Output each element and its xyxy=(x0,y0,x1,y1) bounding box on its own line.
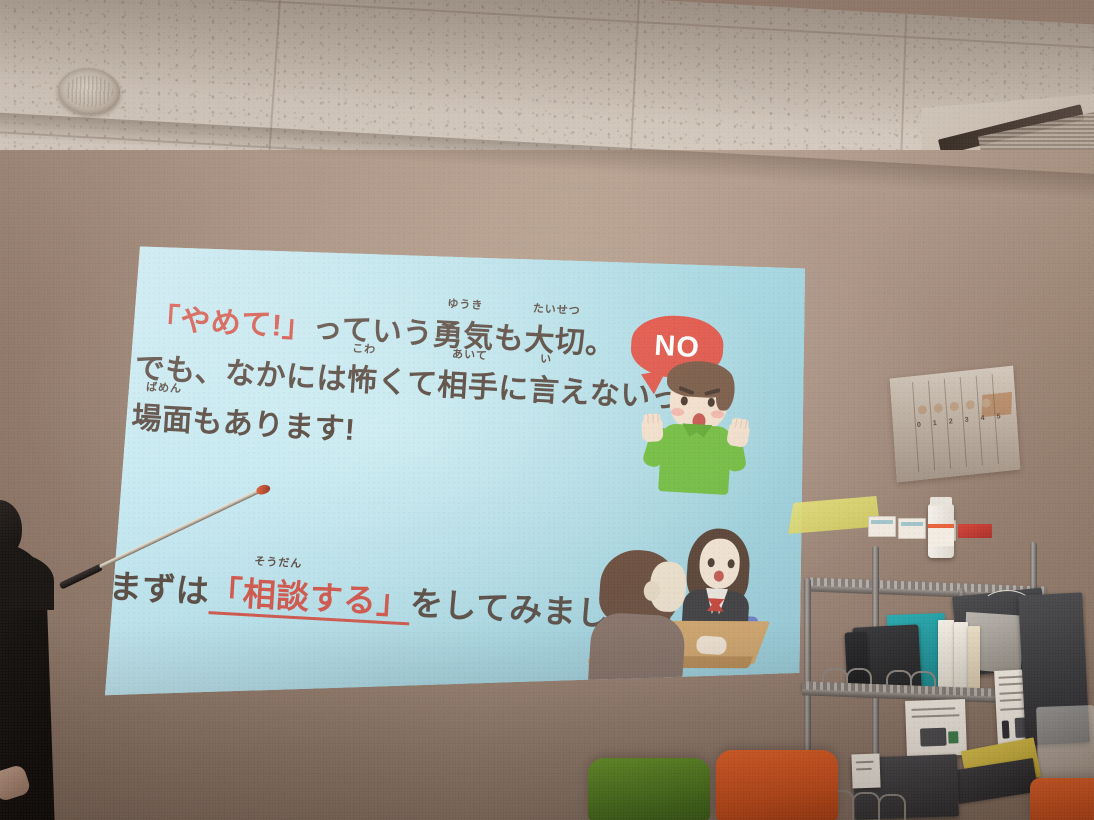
wall-poster-feelings-scale: 0 1 2 3 4 5 xyxy=(890,366,1021,483)
white-binder xyxy=(954,622,968,696)
screen-glare xyxy=(105,242,805,698)
bottle-label xyxy=(928,524,954,546)
sign-green-mark xyxy=(948,731,958,743)
cream-binder xyxy=(968,626,980,694)
sign-laptop-care-notice xyxy=(905,699,967,757)
small-label-tag xyxy=(851,754,880,789)
chair-orange-right[interactable] xyxy=(1030,778,1094,820)
room-photo-scene: 「やめて!」っていうゆうき勇気もたいせつ大切。 でも、なかにはこわ怖くてあいて相… xyxy=(0,0,1094,820)
chair-orange[interactable] xyxy=(716,750,838,820)
white-binder xyxy=(938,620,954,696)
sign-pen-image xyxy=(1002,720,1010,738)
poster-shading xyxy=(890,366,1021,483)
wire-rack-shelving xyxy=(806,528,1094,820)
shelf-divider-wire xyxy=(852,792,880,820)
sign-text-line xyxy=(1000,699,1022,702)
sign-text-line xyxy=(856,761,874,764)
bottle-cap xyxy=(930,497,952,506)
bottle-item xyxy=(928,504,954,558)
projection-screen[interactable]: 「やめて!」っていうゆうき勇気もたいせつ大切。 でも、なかにはこわ怖くてあいて相… xyxy=(105,242,805,698)
sign-text-line xyxy=(912,714,960,718)
small-box-item xyxy=(868,516,896,537)
sign-text-line xyxy=(911,707,955,711)
chair-green[interactable] xyxy=(588,758,710,820)
red-box-item xyxy=(958,524,992,538)
sign-text-line xyxy=(999,683,1023,686)
sign-laptop-image xyxy=(920,728,947,747)
presenter-shoulder xyxy=(0,552,54,610)
presenter xyxy=(0,500,78,820)
small-box-item xyxy=(898,518,926,539)
shelf-divider-wire xyxy=(878,794,906,820)
sign-text-line xyxy=(856,768,872,771)
